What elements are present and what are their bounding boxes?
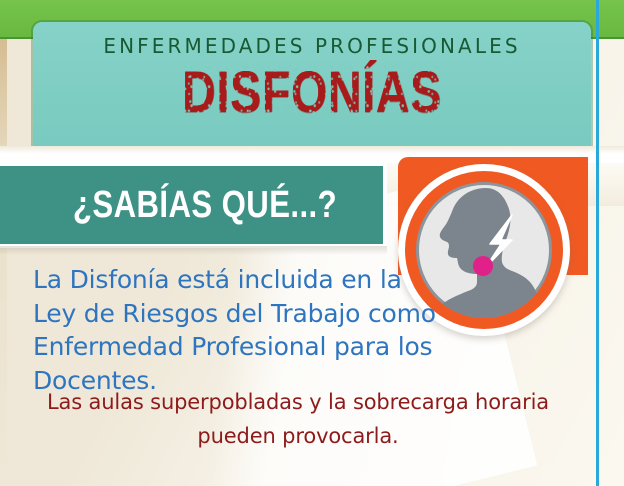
infographic-poster: ENFERMEDADES PROFESIONALES DISFONÍAS ¿SA… (0, 0, 624, 486)
page-title-text: DISFONÍAS (182, 62, 442, 124)
header-eyebrow: ENFERMEDADES PROFESIONALES (33, 34, 591, 58)
red-paragraph: Las aulas superpobladas y la sobrecarga … (33, 385, 563, 453)
did-you-know-banner: ¿SABÍAS QUÉ...? (0, 163, 387, 248)
blue-line-2: Ley de Riesgos del Trabajo como (33, 297, 553, 331)
header-panel: ENFERMEDADES PROFESIONALES DISFONÍAS (33, 22, 591, 146)
did-you-know-label: ¿SABÍAS QUÉ...? (46, 184, 338, 227)
red-line-1: Las aulas superpobladas y la sobrecarga … (33, 385, 563, 419)
blue-paragraph: La Disfonía está incluida en la Ley de R… (33, 263, 553, 397)
page-title: DISFONÍAS (89, 62, 535, 124)
vertical-blue-rule (596, 0, 599, 486)
red-line-2: pueden provocarla. (33, 419, 563, 453)
blue-line-1: La Disfonía está incluida en la (33, 263, 553, 297)
